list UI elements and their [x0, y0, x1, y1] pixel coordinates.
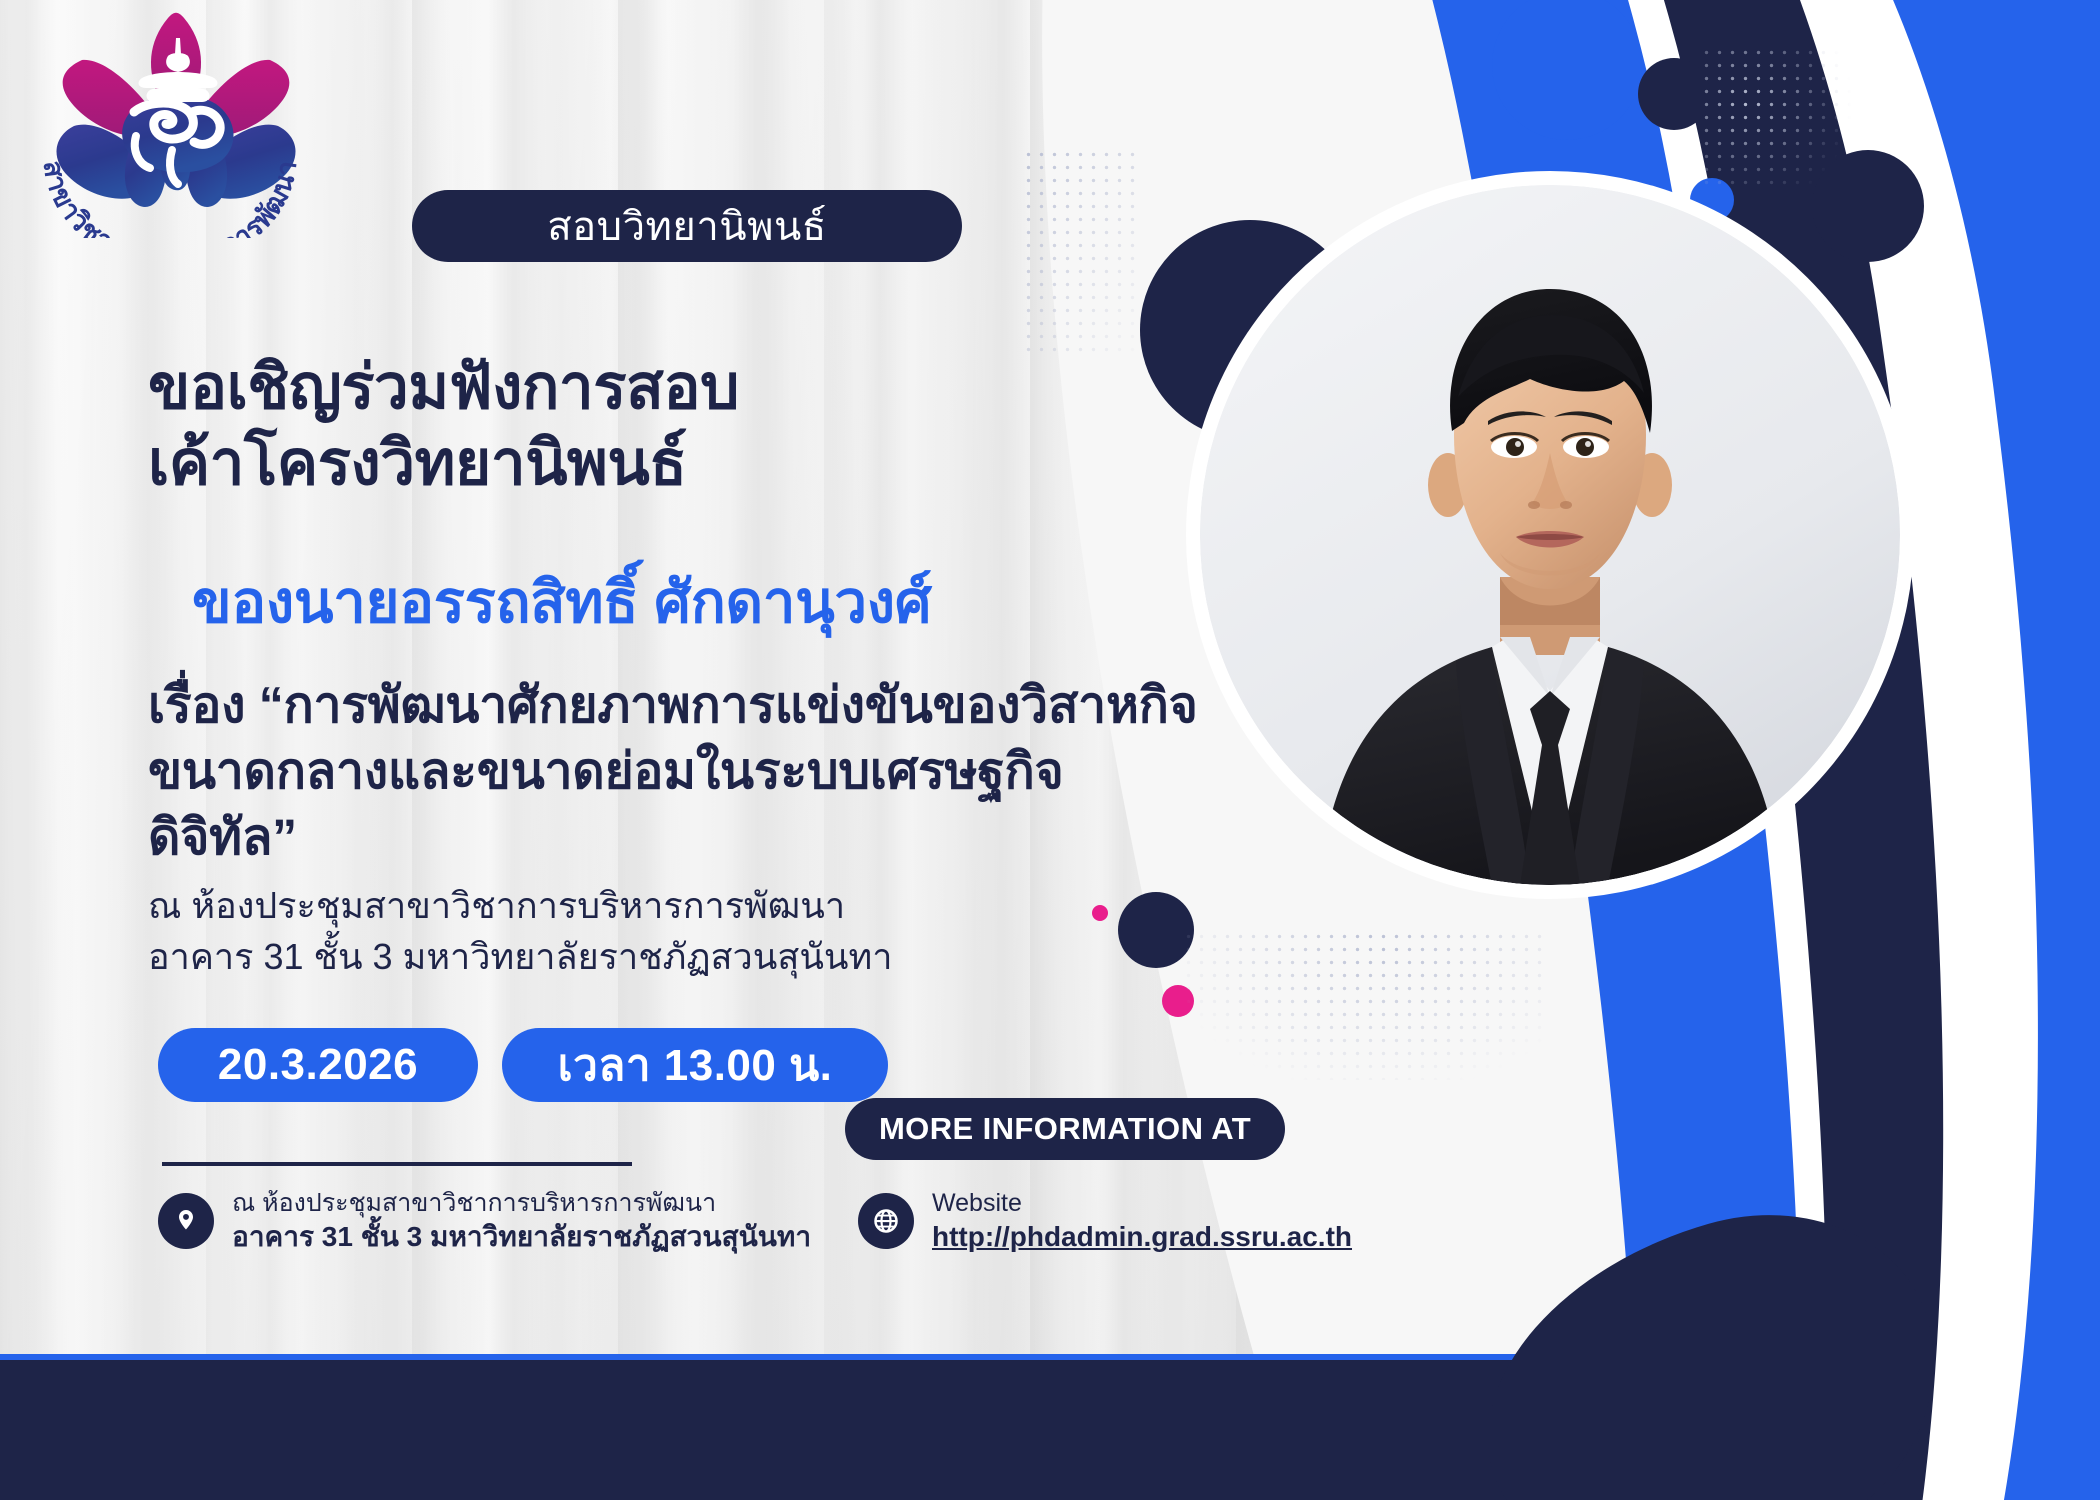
orchid-flower-logo: สาขาวิชาการบริหารการพัฒนา	[20, 8, 350, 238]
student-name: ของนายอรรถสิทธิ์ ศักดานุวงศ์	[192, 568, 1272, 638]
venue-line-2: อาคาร 31 ชั้น 3 มหาวิทยาลัยราชภัฏสวนสุนั…	[148, 931, 1048, 982]
thesis-title-line-2: ขนาดกลางและขนาดย่อมในระบบเศรษฐกิจดิจิทัล…	[148, 738, 1208, 870]
halftone-dots-right-top	[1700, 46, 1860, 186]
footer-venue-text: ณ ห้องประชุมสาขาวิชาการบริหารการพัฒนา อา…	[232, 1188, 811, 1254]
thesis-title-line-1: เรื่อง “การพัฒนาศักยภาพการแข่งขันของวิสา…	[148, 672, 1208, 738]
bottom-navy-band	[0, 1360, 1620, 1500]
poster-canvas: สาขาวิชาการบริหารการพัฒนา	[0, 0, 2100, 1500]
circle-magenta-dot-small	[1092, 905, 1108, 921]
footer-website-url[interactable]: http://phdadmin.grad.ssru.ac.th	[932, 1219, 1352, 1254]
heading-line-1: ขอเชิญร่วมฟังการสอบ	[148, 350, 1188, 426]
footer-website-text: Website http://phdadmin.grad.ssru.ac.th	[932, 1188, 1352, 1254]
status-badge-exam-type: สอบวิทยานิพนธ์	[412, 190, 962, 262]
more-information-badge: MORE INFORMATION AT	[845, 1098, 1285, 1160]
halftone-dots-bottom-portrait	[1182, 930, 1542, 1080]
date-badge: 20.3.2026	[158, 1028, 478, 1102]
heading-line-2: เค้าโครงวิทยานิพนธ์	[148, 426, 1188, 502]
time-badge: เวลา 13.00 น.	[502, 1028, 888, 1102]
footer-venue-block: ณ ห้องประชุมสาขาวิชาการบริหารการพัฒนา อา…	[158, 1188, 811, 1254]
venue-details: ณ ห้องประชุมสาขาวิชาการบริหารการพัฒนา อา…	[148, 880, 1048, 982]
footer-website-label: Website	[932, 1188, 1352, 1219]
portrait-photo-frame	[1200, 185, 1900, 885]
location-pin-icon	[158, 1193, 214, 1249]
portrait-photo-male-in-suit	[1200, 185, 1900, 885]
venue-line-1: ณ ห้องประชุมสาขาวิชาการบริหารการพัฒนา	[148, 880, 1048, 931]
halftone-dots-top-left-of-portrait	[1022, 148, 1142, 358]
divider	[162, 1162, 632, 1166]
page-title: ขอเชิญร่วมฟังการสอบ เค้าโครงวิทยานิพนธ์	[148, 350, 1188, 501]
footer-website-block: Website http://phdadmin.grad.ssru.ac.th	[858, 1188, 1352, 1254]
thesis-title: เรื่อง “การพัฒนาศักยภาพการแข่งขันของวิสา…	[148, 672, 1208, 870]
globe-icon	[858, 1193, 914, 1249]
footer-venue-line-2: อาคาร 31 ชั้น 3 มหาวิทยาลัยราชภัฏสวนสุนั…	[232, 1219, 811, 1254]
footer-venue-line-1: ณ ห้องประชุมสาขาวิชาการบริหารการพัฒนา	[232, 1188, 811, 1219]
